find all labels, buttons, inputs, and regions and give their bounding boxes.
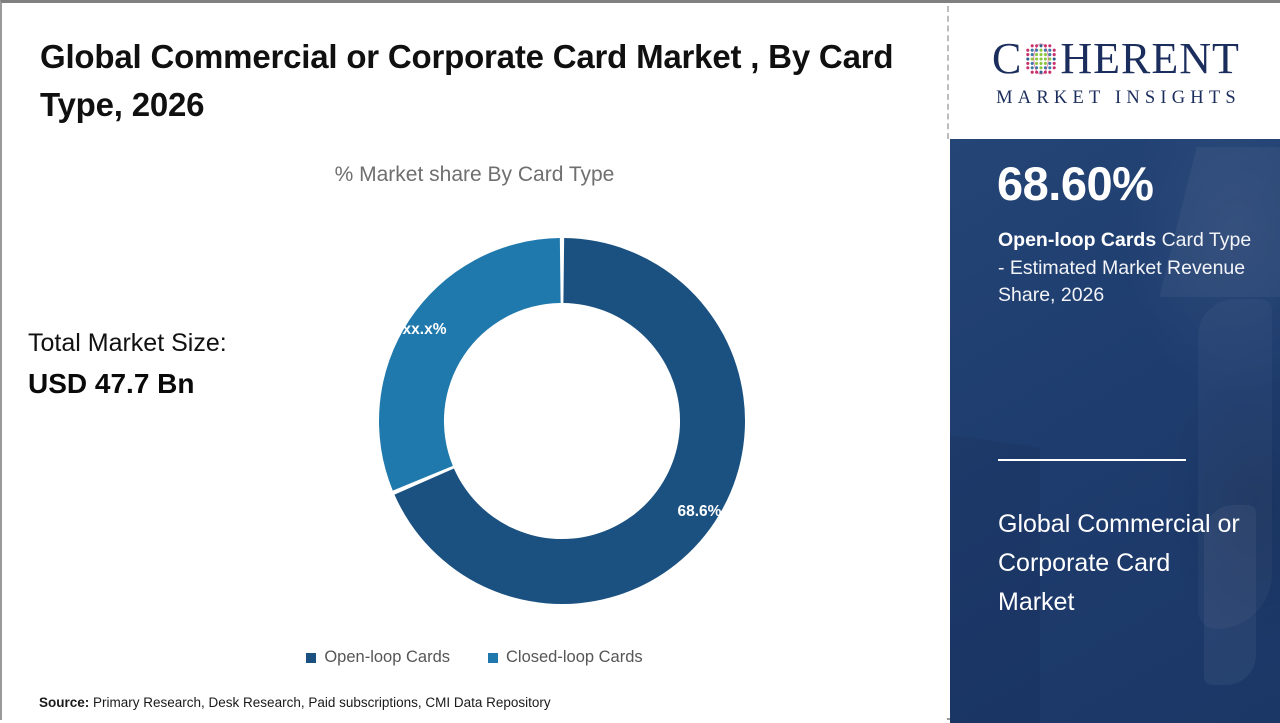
legend-item-closed-loop-cards[interactable]: Closed-loop Cards [488,648,643,667]
infographic-canvas: Global Commercial or Corporate Card Mark… [0,0,1280,720]
sidebar-content: 68.60% Open-loop Cards Card Type - Estim… [950,139,1280,723]
logo-letters-herent: HERENT [1060,37,1240,81]
total-market-size-label: Total Market Size: [28,325,328,361]
stat-description: Open-loop Cards Card Type - Estimated Ma… [998,227,1260,310]
sidebar-market-title: Global Commercial or Corporate Card Mark… [998,505,1250,622]
donut-slices [379,238,745,604]
source-note: Source: Primary Research, Desk Research,… [39,695,551,710]
donut-chart: 68.6% xx.x% [379,238,745,604]
source-label: Source: [39,695,89,710]
total-market-size-value: USD 47.7 Bn [28,364,328,403]
donut-label-open-loop-cards: 68.6% [677,503,721,520]
page-title: Global Commercial or Corporate Card Mark… [40,33,900,129]
donut-label-closed-loop-cards: xx.x% [403,321,447,338]
stat-percentage: 68.60% [997,160,1153,207]
legend-item-open-loop-cards[interactable]: Open-loop Cards [306,648,450,667]
donut-slice-closed-loop-cards[interactable] [379,238,561,491]
globe-icon [1023,41,1059,77]
logo-wordmark: C HERENT [992,37,1240,81]
total-market-size-block: Total Market Size: USD 47.7 Bn [28,325,328,403]
source-text: Primary Research, Desk Research, Paid su… [89,695,550,710]
logo-letter-c: C [992,37,1022,81]
logo: C HERENT MARKET INSIGHTS [950,6,1280,139]
chart-legend: Open-loop Cards Closed-loop Cards [2,648,947,667]
legend-label: Open-loop Cards [324,648,450,667]
logo-tagline: MARKET INSIGHTS [991,88,1241,109]
sidebar-divider [998,459,1186,461]
legend-swatch-icon [306,653,316,663]
legend-swatch-icon [488,653,498,663]
legend-label: Closed-loop Cards [506,648,643,667]
stat-description-highlight: Open-loop Cards [998,229,1156,251]
panel-divider [947,6,949,139]
brand-sidebar: C HERENT MARKET INSIGHTS 68.60% Open-loo… [950,6,1280,723]
chart-subtitle: % Market share By Card Type [2,163,947,187]
donut-chart-svg: 68.6% xx.x% [379,238,745,604]
chart-panel: Global Commercial or Corporate Card Mark… [2,3,947,720]
